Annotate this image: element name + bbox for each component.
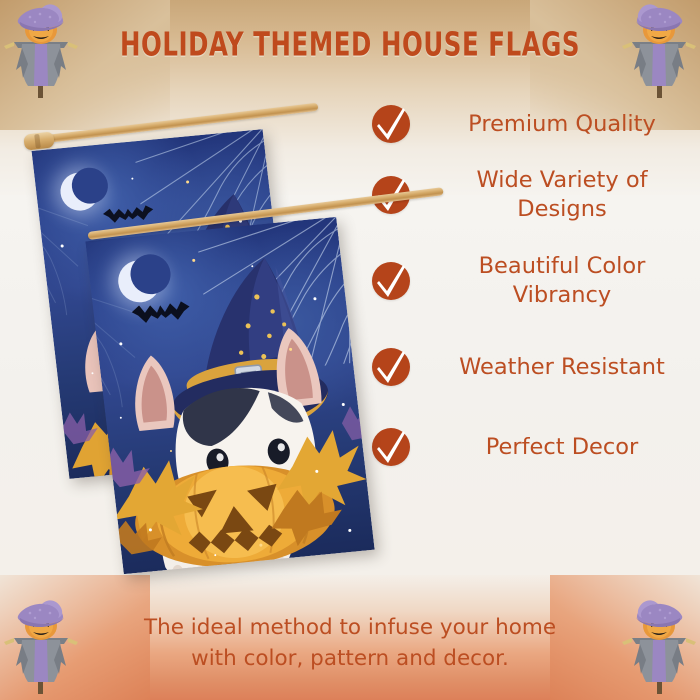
feature-label: Beautiful Color Vibrancy — [432, 252, 692, 310]
pumpkin-scarecrow-icon — [2, 600, 80, 696]
house-flag-front — [85, 217, 374, 574]
feature-label: Perfect Decor — [432, 433, 692, 462]
check-circle-icon — [372, 105, 410, 143]
check-circle-icon — [372, 348, 410, 386]
promo-graphic: HOLIDAY THEMED HOUSE FLAGS — [0, 0, 700, 700]
footer-caption: The ideal method to infuse your home wit… — [45, 612, 655, 674]
footer-caption-line-1: The ideal method to infuse your home — [45, 612, 655, 643]
pumpkin-scarecrow-icon — [2, 4, 80, 100]
footer-caption-line-2: with color, pattern and decor. — [45, 643, 655, 674]
feature-list: Premium Quality Wide Variety of Designs … — [372, 96, 692, 484]
page-title: HOLIDAY THEMED HOUSE FLAGS — [11, 25, 690, 64]
check-circle-icon — [372, 428, 410, 466]
pumpkin-scarecrow-icon — [620, 600, 698, 696]
check-circle-icon — [372, 262, 410, 300]
feature-item-weather-resistant: Weather Resistant — [372, 324, 692, 410]
feature-item-perfect-decor: Perfect Decor — [372, 410, 692, 484]
feature-label: Weather Resistant — [432, 353, 692, 382]
feature-label: Wide Variety of Designs — [432, 166, 692, 224]
feature-item-beautiful-color-vibrancy: Beautiful Color Vibrancy — [372, 238, 692, 324]
feature-label: Premium Quality — [432, 110, 692, 139]
star-field — [85, 217, 374, 574]
finial-band-icon — [34, 134, 41, 148]
feature-item-premium-quality: Premium Quality — [372, 96, 692, 152]
pumpkin-scarecrow-icon — [620, 4, 698, 100]
